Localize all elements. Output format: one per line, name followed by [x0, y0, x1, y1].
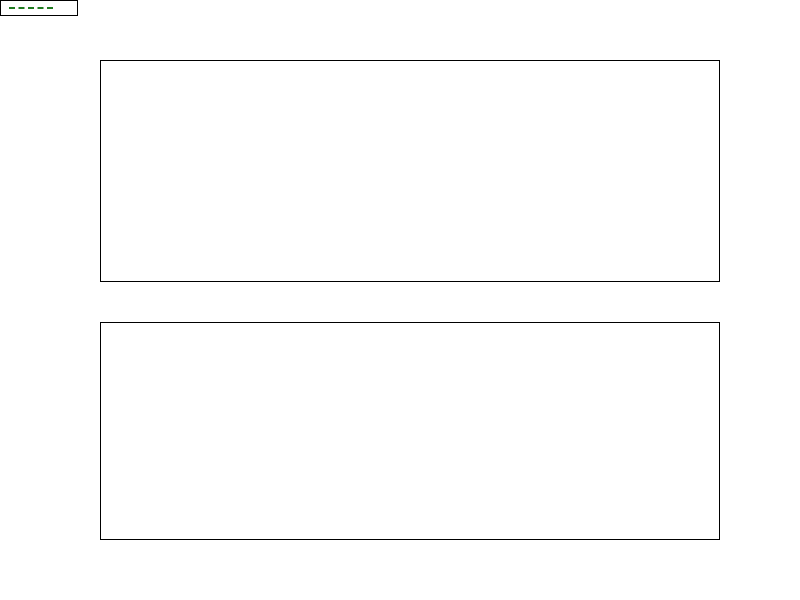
histogram-plot-area — [101, 61, 721, 283]
histogram-axes — [100, 60, 720, 282]
mag-limit-legend-swatch — [9, 7, 53, 9]
figure-canvas — [0, 0, 800, 600]
cumulative-axes — [100, 322, 720, 540]
legend — [0, 0, 78, 16]
cumulative-plot-area — [101, 323, 721, 541]
